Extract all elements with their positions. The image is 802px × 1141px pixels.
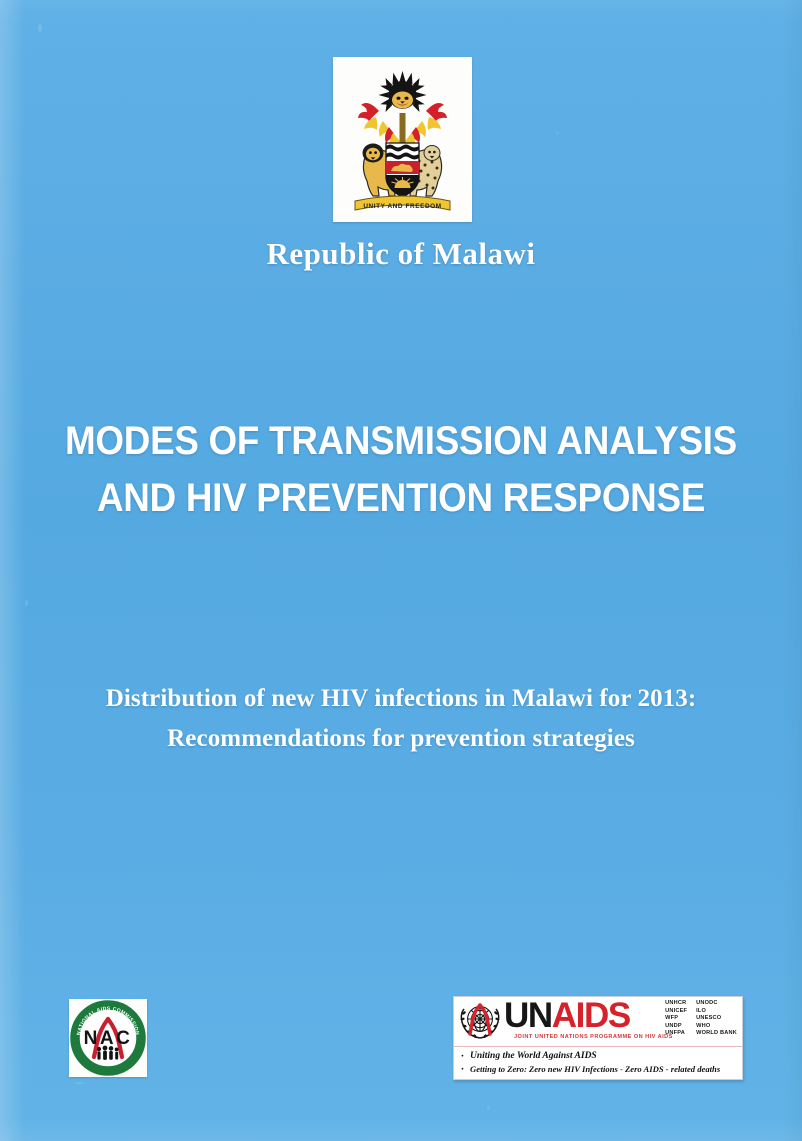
agency-item: UNHCR (665, 1000, 687, 1008)
page-subtitle: Distribution of new HIV infections in Ma… (0, 679, 802, 759)
unaids-taglines: Uniting the World Against AIDS Getting t… (454, 1047, 742, 1074)
scan-speck (25, 600, 28, 606)
agency-column-1: UNHCR UNICEF WFP UNDP UNFPA (665, 1000, 687, 1038)
agency-item: WHO (696, 1023, 737, 1031)
scan-speck (487, 1105, 490, 1110)
unaids-tagline-primary: Uniting the World Against AIDS (458, 1051, 742, 1061)
unaids-cosponsor-agencies: UNHCR UNICEF WFP UNDP UNFPA UNODC ILO UN… (665, 1000, 737, 1038)
unaids-logo-panel: UNAIDS JOINT UNITED NATIONS PROGRAMME ON… (453, 996, 743, 1080)
national-aids-commission-logo-icon: NATIONAL AIDS COMMISSION MALAWI NAC (69, 999, 147, 1077)
svg-text:UNITY AND FREEDOM: UNITY AND FREEDOM (363, 203, 441, 210)
agency-item: WFP (665, 1015, 687, 1023)
page-subtitle-line-1: Distribution of new HIV infections in Ma… (0, 679, 802, 719)
document-cover-page: UNITY AND FREEDOM Republic of Malawi MOD… (0, 0, 802, 1141)
agency-item: UNESCO (696, 1015, 737, 1023)
unaids-wordmark-aids: AIDS (552, 996, 630, 1035)
national-aids-commission-logo-panel: NATIONAL AIDS COMMISSION MALAWI NAC (69, 999, 147, 1077)
agency-column-2: UNODC ILO UNESCO WHO WORLD BANK (696, 1000, 737, 1038)
scan-speck (75, 1082, 84, 1084)
page-title: MODES OF TRANSMISSION ANALYSIS AND HIV P… (32, 413, 770, 527)
unaids-strapline: JOINT UNITED NATIONS PROGRAMME ON HIV AI… (514, 1034, 673, 1040)
svg-text:NAC: NAC (84, 1028, 133, 1049)
page-subtitle-line-2: Recommendations for prevention strategie… (0, 719, 802, 759)
agency-item: UNDP (665, 1023, 687, 1031)
agency-item: WORLD BANK (696, 1030, 737, 1038)
un-emblem-with-aids-ribbon-icon (458, 1000, 502, 1042)
scan-speck (38, 24, 42, 32)
country-line: Republic of Malawi (0, 236, 802, 272)
unaids-wordmark-un: UN (504, 996, 552, 1035)
page-title-line-1: MODES OF TRANSMISSION ANALYSIS (32, 413, 770, 470)
scan-speck (556, 132, 559, 135)
agency-item: ILO (696, 1008, 737, 1016)
agency-item: UNICEF (665, 1008, 687, 1016)
coat-of-arms-of-malawi-icon: UNITY AND FREEDOM (333, 57, 472, 222)
unaids-tagline-secondary: Getting to Zero: Zero new HIV Infections… (458, 1064, 742, 1074)
page-title-line-2: AND HIV PREVENTION RESPONSE (32, 470, 770, 527)
unaids-wordmark: UNAIDS (504, 998, 630, 1034)
unaids-logo-header: UNAIDS JOINT UNITED NATIONS PROGRAMME ON… (454, 997, 742, 1047)
agency-item: UNODC (696, 1000, 737, 1008)
coat-of-arms-panel: UNITY AND FREEDOM (333, 57, 472, 222)
agency-item: UNFPA (665, 1030, 687, 1038)
